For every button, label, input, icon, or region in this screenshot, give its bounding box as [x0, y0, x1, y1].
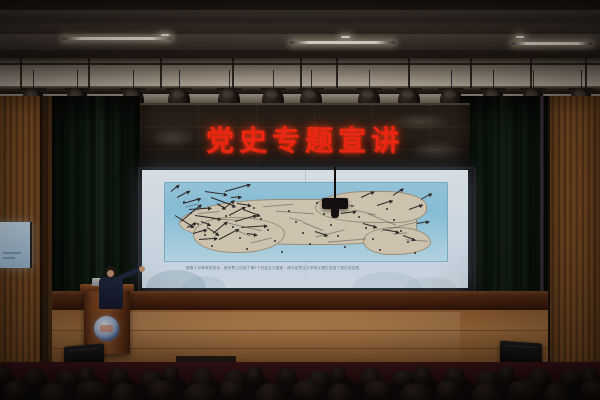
audience-member [148, 380, 176, 400]
auditorium-scene: 党史专题宣讲 俄国十月革命的成功，使世界上出现了第1个社会主义国家，使马克思主义… [0, 0, 600, 400]
audience-member [472, 383, 500, 400]
presenter-hand [139, 266, 145, 272]
map-city-dot [316, 202, 318, 204]
window-mullion [530, 58, 532, 88]
map-city-dot [365, 227, 367, 229]
presenter-face [107, 270, 114, 277]
map-city-dot [267, 229, 269, 231]
map-city-dot [386, 208, 388, 210]
light-hanger-wire [533, 70, 534, 88]
audience-member [256, 383, 284, 400]
map-arrow [177, 190, 190, 197]
map-city-dot [358, 216, 360, 218]
map-city-dot [218, 204, 220, 206]
audience-member [400, 383, 432, 400]
map-city-dot [197, 223, 199, 225]
window-mullion [336, 58, 338, 88]
light-hanger-wire [409, 70, 410, 88]
light-hanger-wire [179, 70, 180, 88]
map-arrow [421, 193, 432, 200]
map-city-dot [379, 249, 381, 251]
audience-member [580, 380, 600, 400]
map-city-dot [407, 241, 409, 243]
audience-member [184, 383, 216, 400]
light-hanger-wire [229, 70, 230, 88]
map-city-dot [330, 224, 332, 226]
audience-member [109, 368, 129, 384]
map-city-dot [183, 201, 185, 203]
window-mullion [20, 58, 22, 88]
map-city-dot [295, 221, 297, 223]
audience-member [498, 366, 515, 382]
audience-member [246, 366, 263, 385]
projection-screen: 俄国十月革命的成功，使世界上出现了第1个社会主义国家，使马克思主义学说从理论变成… [142, 170, 468, 288]
audience-member [508, 380, 540, 400]
slide-ink-wash-band [142, 258, 468, 288]
light-hanger-wire [133, 70, 134, 88]
light-hanger-wire [77, 70, 78, 88]
map-city-dot [414, 252, 416, 254]
map-city-dot [246, 248, 248, 250]
map-city-dot [204, 234, 206, 236]
microphone-capsule [331, 208, 339, 218]
window-mullion [160, 58, 162, 88]
audience-member [220, 380, 244, 400]
map-city-dot [323, 213, 325, 215]
map-city-dot [393, 219, 395, 221]
audience-member [277, 368, 297, 384]
map-city-dot [400, 230, 402, 232]
map-arrow [417, 221, 429, 224]
audience-member [76, 380, 108, 400]
ceiling-soffit-band [0, 10, 600, 21]
map-city-dot [302, 232, 304, 234]
window-mullion [88, 58, 90, 88]
map-city-dot [344, 246, 346, 248]
map-city-dot [274, 240, 276, 242]
ceiling-strip-light [160, 34, 170, 36]
map-city-dot [309, 243, 311, 245]
map-city-dot [232, 226, 234, 228]
map-city-dot [372, 238, 374, 240]
led-banner-panel: 党史专题宣讲 [140, 103, 470, 171]
map-arrow [171, 185, 179, 192]
map-city-dot [239, 237, 241, 239]
light-hanger-wire [451, 70, 452, 88]
light-hanger-wire [273, 70, 274, 88]
window-mullion [470, 58, 472, 88]
light-hanger-wire [33, 70, 34, 88]
audience-member [330, 366, 347, 382]
ceiling-strip-light [512, 42, 592, 45]
window-mullion [232, 58, 234, 88]
map-city-dot [190, 212, 192, 214]
audience-member [40, 383, 68, 400]
audience-member [25, 368, 45, 387]
presenter-body [99, 277, 123, 309]
audience-member [328, 383, 352, 400]
window-mullion [300, 58, 302, 88]
banner-title-text: 党史专题宣讲 [140, 119, 470, 159]
light-hanger-wire [493, 70, 494, 88]
side-wall-lcd-panel [0, 222, 32, 268]
audience-member [436, 380, 460, 400]
map-city-dot [351, 205, 353, 207]
audience-member [364, 380, 392, 400]
ceiling-strip-light [340, 36, 351, 38]
slide-map-image [164, 182, 448, 262]
audience-member [112, 383, 136, 400]
map-city-dot [288, 210, 290, 212]
map-city-dot [225, 215, 227, 217]
stage-floor-reflection [120, 312, 460, 364]
microphone-drop-wire [334, 167, 336, 201]
podium-emblem-icon [94, 316, 119, 341]
wood-wall-right [548, 96, 600, 378]
light-hanger-wire [581, 70, 582, 88]
ceiling [0, 0, 600, 62]
audience-member [4, 380, 28, 400]
map-city-dot [281, 251, 283, 253]
audience-member [292, 380, 324, 400]
ceiling-strip-light [515, 36, 525, 38]
map-city-dot [211, 245, 213, 247]
light-hanger-wire [311, 70, 312, 88]
map-city-dot [260, 218, 262, 220]
map-arrow [225, 184, 250, 192]
audience-member [544, 383, 568, 400]
map-city-dot [337, 235, 339, 237]
ceiling-strip-light [62, 37, 172, 40]
map-city-dot [253, 207, 255, 209]
ceiling-strip-light [290, 41, 395, 44]
light-hanger-wire [369, 70, 370, 88]
map-arrow [205, 191, 227, 195]
window-mullion [585, 58, 587, 88]
